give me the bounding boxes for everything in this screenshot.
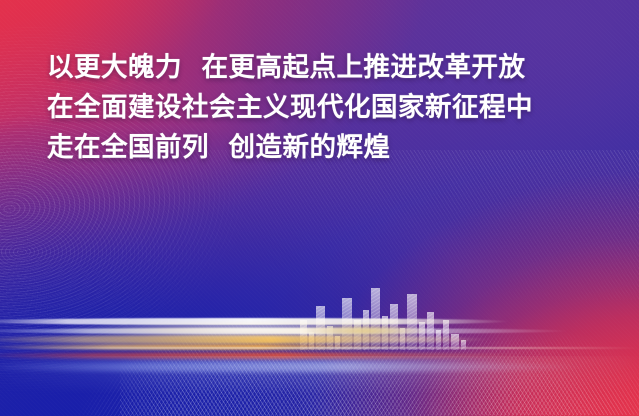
headline-line-3: 走在全国前列 创造新的辉煌 (47, 128, 607, 168)
headline-block: 以更大魄力 在更高起点上推进改革开放 在全面建设社会主义现代化国家新征程中 走在… (47, 48, 607, 168)
poster-canvas: 以更大魄力 在更高起点上推进改革开放 在全面建设社会主义现代化国家新征程中 走在… (0, 0, 639, 416)
headline-line-2: 在全面建设社会主义现代化国家新征程中 (47, 88, 607, 128)
headline-line-1: 以更大魄力 在更高起点上推进改革开放 (47, 48, 607, 88)
